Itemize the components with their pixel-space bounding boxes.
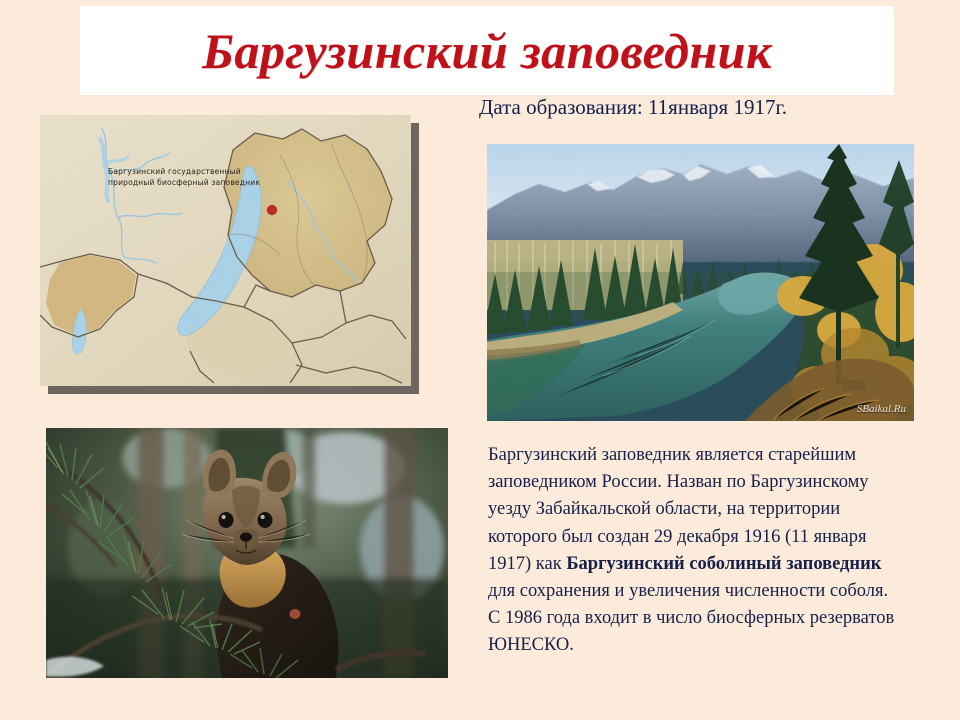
paragraph-line-8: ЮНЕСКО. (488, 632, 912, 659)
description-paragraph: Баргузинский заповедник является старейш… (488, 442, 912, 660)
photo-watermark: SBaikal.Ru (857, 403, 906, 415)
page-title: Баргузинский заповедник (80, 6, 894, 95)
paragraph-line-5: 1917) как Баргузинский соболиный заповед… (488, 551, 912, 578)
sable-photo (46, 428, 448, 678)
reserve-original-name: Баргузинский соболиный заповедник (566, 554, 881, 574)
foundation-date-text: Дата образования: 11января 1917г. (479, 95, 909, 120)
paragraph-line-6: для сохранения и увеличения численности … (488, 578, 912, 605)
paragraph-line-1: Баргузинский заповедник является старейш… (488, 442, 912, 469)
map-graphic (40, 115, 411, 386)
river-photo-graphic (487, 144, 914, 421)
sable-photo-graphic (46, 428, 448, 678)
river-photo: SBaikal.Ru (487, 144, 914, 421)
map-label-line-1: Баргузинский государственный (108, 167, 283, 178)
paragraph-line-4: которого был создан 29 декабря 1916 (11 … (488, 524, 912, 551)
paragraph-line-5-plain: 1917) как (488, 554, 566, 574)
map-reserve-label: Баргузинский государственный природный б… (108, 167, 283, 189)
paragraph-line-7: С 1986 года входит в число биосферных ре… (488, 605, 912, 632)
paragraph-line-3: уезду Забайкальской области, на территор… (488, 496, 912, 523)
map-location-marker-icon (267, 205, 277, 215)
map-image (40, 115, 411, 386)
map-label-line-2: природный биосферный заповедник (108, 178, 283, 189)
paragraph-line-2: заповедником России. Назван по Баргузинс… (488, 469, 912, 496)
map-figure: Баргузинский государственный природный б… (40, 115, 411, 386)
title-banner: Баргузинский заповедник (80, 6, 894, 95)
